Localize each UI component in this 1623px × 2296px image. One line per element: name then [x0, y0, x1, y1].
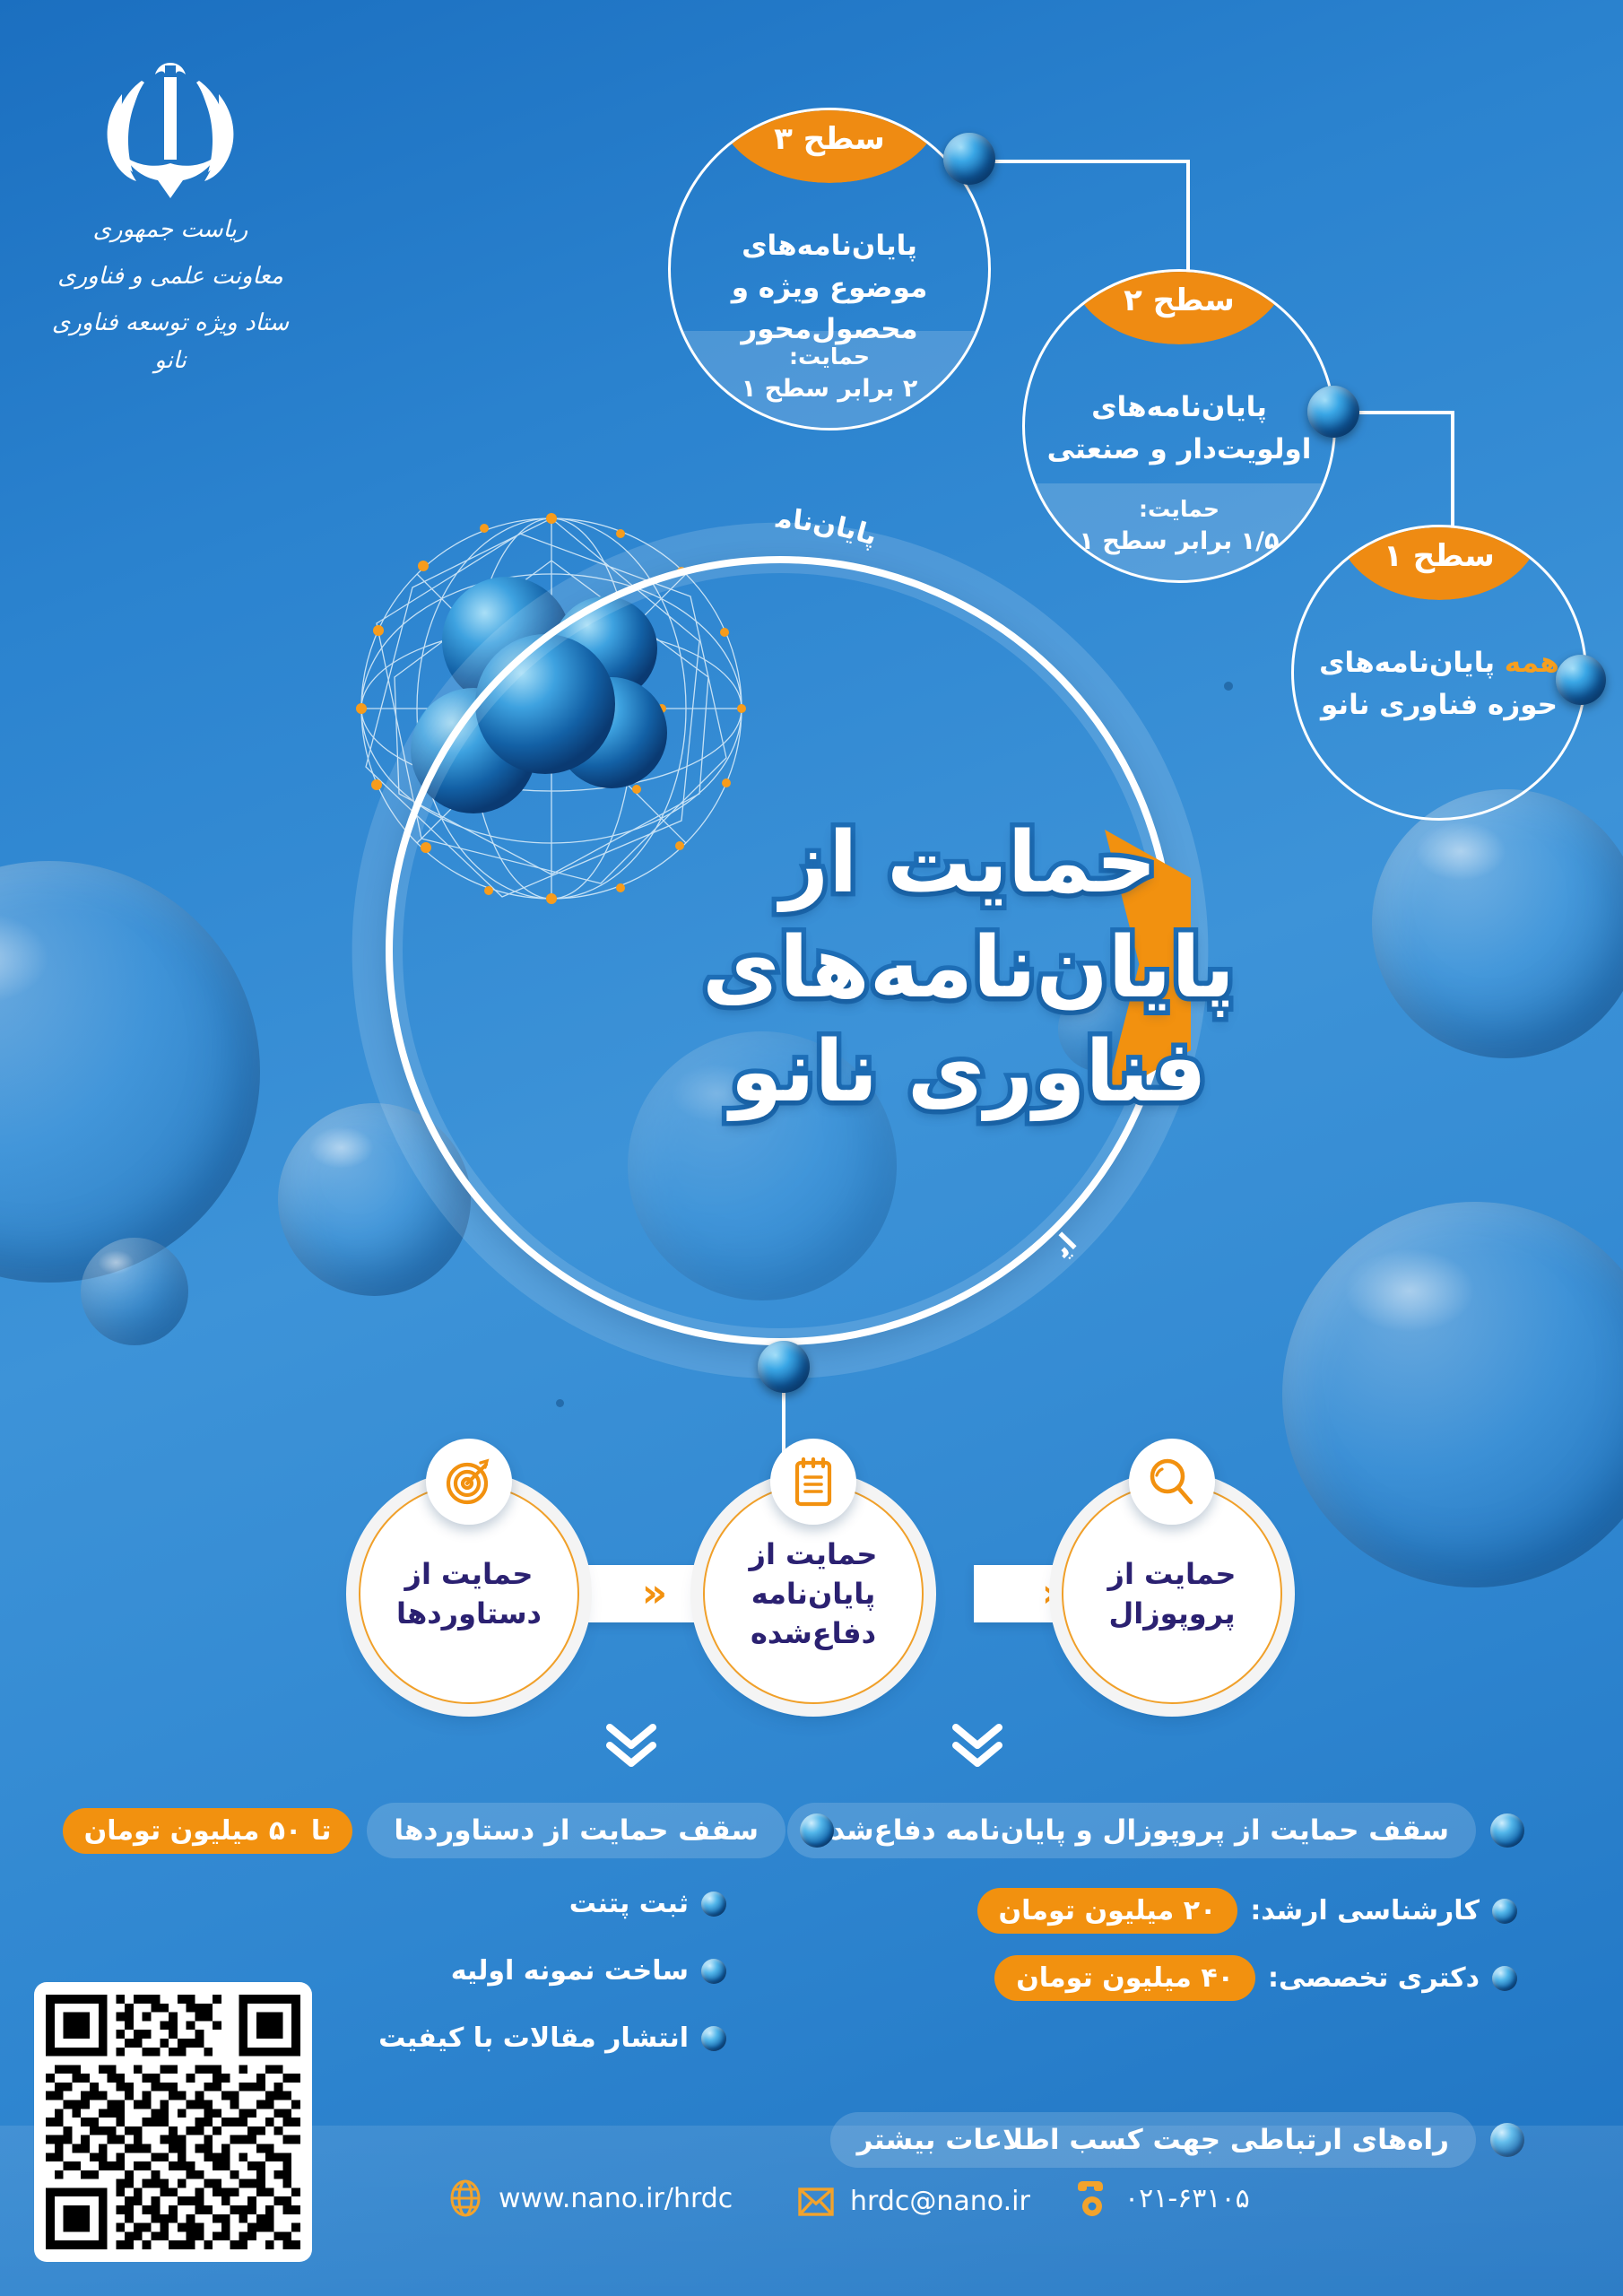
qr-code[interactable]	[34, 1982, 312, 2262]
process-circle-defended-thesis[interactable]: حمایت از پایان‌نامه دفاع‌شده	[703, 1483, 924, 1704]
row-amount-masters: ۲۰ میلیون تومان	[977, 1888, 1238, 1934]
process-label-defended-thesis: حمایت از پایان‌نامه دفاع‌شده	[705, 1535, 922, 1653]
right-row-masters: کارشناسی ارشد: ۲۰ میلیون تومان	[977, 1888, 1517, 1934]
left-item-row: انتشار مقالات با کیفیت	[378, 2022, 726, 2054]
title-line-2: پایان‌نامه‌های	[610, 917, 1327, 1022]
decorative-bubble	[81, 1238, 188, 1345]
right-block-heading: سقف حمایت از پروپوزال و پایان‌نامه دفاع‌…	[787, 1803, 1524, 1858]
page-title: حمایت از پایان‌نامه‌های فناوری نانو	[610, 812, 1327, 1126]
contact-phone[interactable]: ۰۲۱-۶۳۱۰۵	[1076, 2179, 1250, 2217]
process-circle-proposal[interactable]: حمایت از پروپوزال	[1062, 1483, 1282, 1704]
email-address: hrdc@nano.ir	[850, 2186, 1030, 2217]
bullet-orb	[701, 1959, 726, 1984]
target-icon	[426, 1439, 512, 1525]
right-heading-pill: سقف حمایت از پروپوزال و پایان‌نامه دفاع‌…	[787, 1803, 1476, 1858]
level-1-circle[interactable]: سطح ۱ همه پایان‌نامه‌های حوزه فناوری نان…	[1291, 525, 1587, 821]
telephone-icon	[1076, 2179, 1108, 2217]
left-item-label: ثبت پتنت	[569, 1888, 689, 1919]
ring-bottom-orb	[758, 1341, 810, 1393]
chevron-left-icon: «	[642, 1574, 667, 1613]
left-block-heading: سقف حمایت از دستاوردها تا ۵۰ میلیون توما…	[63, 1803, 834, 1858]
level-2-badge: سطح ۲	[1072, 269, 1288, 344]
poster-root: ریاست جمهوری معاونت علمی و فناوری ستاد و…	[0, 0, 1623, 2296]
level-3-support: حمایت: ۲ برابر سطح ۱	[671, 331, 988, 428]
left-item-label: ساخت نمونه اولیه	[451, 1955, 689, 1987]
curved-text-upper: پایان‌نامه‌های تکمیل حوزه فناوری نانو می…	[296, 466, 881, 552]
decorative-bubble	[0, 861, 260, 1283]
bullet-orb	[1492, 1899, 1517, 1924]
left-heading-amount: تا ۵۰ میلیون تومان	[63, 1808, 353, 1854]
level-3-support-label: حمایت:	[671, 344, 988, 370]
level-3-orb	[943, 133, 995, 185]
bullet-orb	[701, 2026, 726, 2051]
clipboard-icon	[770, 1439, 856, 1525]
title-line-1: حمایت از	[610, 812, 1327, 917]
level-2-orb	[1307, 386, 1359, 438]
level-1-badge: سطح ۱	[1338, 525, 1541, 600]
process-label-achievements: حمایت از دستاوردها	[360, 1554, 577, 1633]
chevron-down-icon	[949, 1720, 1006, 1772]
qr-code-image	[46, 1994, 300, 2250]
level-1-title-highlight: همه	[1505, 647, 1559, 679]
process-label-proposal: حمایت از پروپوزال	[1063, 1554, 1280, 1633]
bullet-orb	[1492, 1966, 1517, 1991]
left-item-label: انتشار مقالات با کیفیت	[378, 2022, 689, 2054]
bullet-orb	[1490, 1813, 1524, 1848]
level-1-title: همه پایان‌نامه‌های حوزه فناوری نانو	[1315, 642, 1565, 726]
level-2-title: پایان‌نامه‌های اولویت‌دار و صنعتی	[1046, 387, 1312, 470]
row-label-phd: دکتری تخصصی:	[1268, 1962, 1480, 1994]
website-url: www.nano.ir/hrdc	[499, 2183, 733, 2214]
contact-website[interactable]: www.nano.ir/hrdc	[448, 2179, 733, 2217]
bullet-orb	[701, 1892, 726, 1917]
left-item-row: ساخت نمونه اولیه	[451, 1955, 726, 1987]
row-label-masters: کارشناسی ارشد:	[1250, 1895, 1480, 1926]
magnifier-icon	[1129, 1439, 1215, 1525]
phone-number: ۰۲۱-۶۳۱۰۵	[1124, 2183, 1250, 2214]
row-amount-phd: ۴۰ میلیون تومان	[994, 1955, 1255, 2001]
envelope-icon	[798, 2187, 834, 2216]
title-line-3: فناوری نانو	[610, 1021, 1327, 1126]
bullet-orb	[800, 1813, 834, 1848]
right-row-phd: دکتری تخصصی: ۴۰ میلیون تومان	[994, 1955, 1517, 2001]
left-item-row: ثبت پتنت	[569, 1888, 726, 1919]
left-heading-pill: سقف حمایت از دستاوردها	[367, 1803, 785, 1858]
level-3-badge: سطح ۳	[718, 108, 941, 183]
level-1-orb	[1556, 655, 1606, 705]
process-circle-achievements[interactable]: حمایت از دستاوردها	[359, 1483, 579, 1704]
decorative-bubble	[1282, 1202, 1623, 1587]
globe-icon	[448, 2179, 482, 2217]
chevron-down-icon	[603, 1720, 660, 1772]
contact-email[interactable]: hrdc@nano.ir	[798, 2186, 1030, 2217]
level-3-support-value: ۲ برابر سطح ۱	[671, 375, 988, 403]
level-3-circle[interactable]: سطح ۳ پایان‌نامه‌های موضوع ویژه و محصول‌…	[668, 108, 991, 430]
